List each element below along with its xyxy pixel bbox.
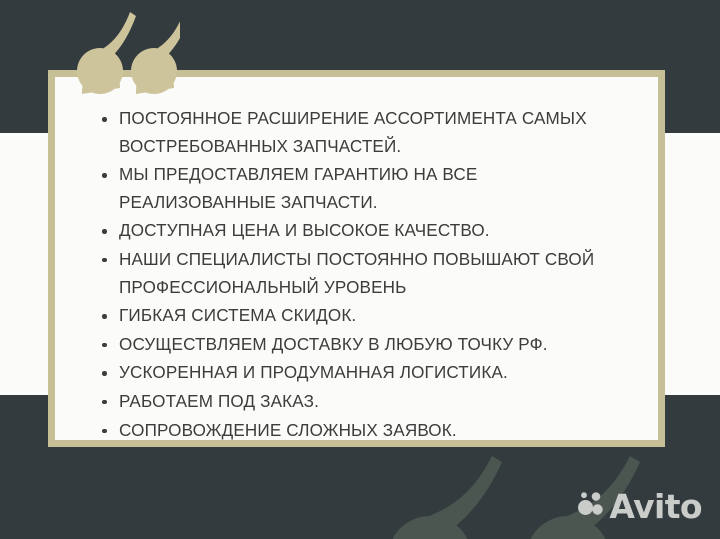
- benefits-card-inner: Постоянное расширение ассортимента самых…: [55, 77, 658, 440]
- avito-dots-logo-icon: [578, 491, 604, 522]
- list-item: Наши специалисты постоянно повышают свой…: [99, 246, 628, 301]
- list-item: Осуществляем доставку в любую точку РФ.: [99, 331, 628, 359]
- list-item: Ускоренная и продуманная логистика.: [99, 359, 628, 387]
- list-item: Гибкая система скидок.: [99, 302, 628, 330]
- listing-image: Постоянное расширение ассортимента самых…: [0, 0, 720, 539]
- list-item: Доступная цена и высокое качество.: [99, 217, 628, 245]
- avito-wordmark: Avito: [609, 490, 702, 523]
- list-item: Работаем под заказ.: [99, 388, 628, 416]
- benefits-list: Постоянное расширение ассортимента самых…: [99, 105, 628, 444]
- list-item: Мы предоставляем гарантию на все реализо…: [99, 161, 628, 216]
- avito-watermark: Avito: [578, 490, 702, 523]
- list-item: Постоянное расширение ассортимента самых…: [99, 105, 628, 160]
- benefits-card: Постоянное расширение ассортимента самых…: [48, 70, 665, 447]
- list-item: Сопровождение сложных заявок.: [99, 417, 628, 445]
